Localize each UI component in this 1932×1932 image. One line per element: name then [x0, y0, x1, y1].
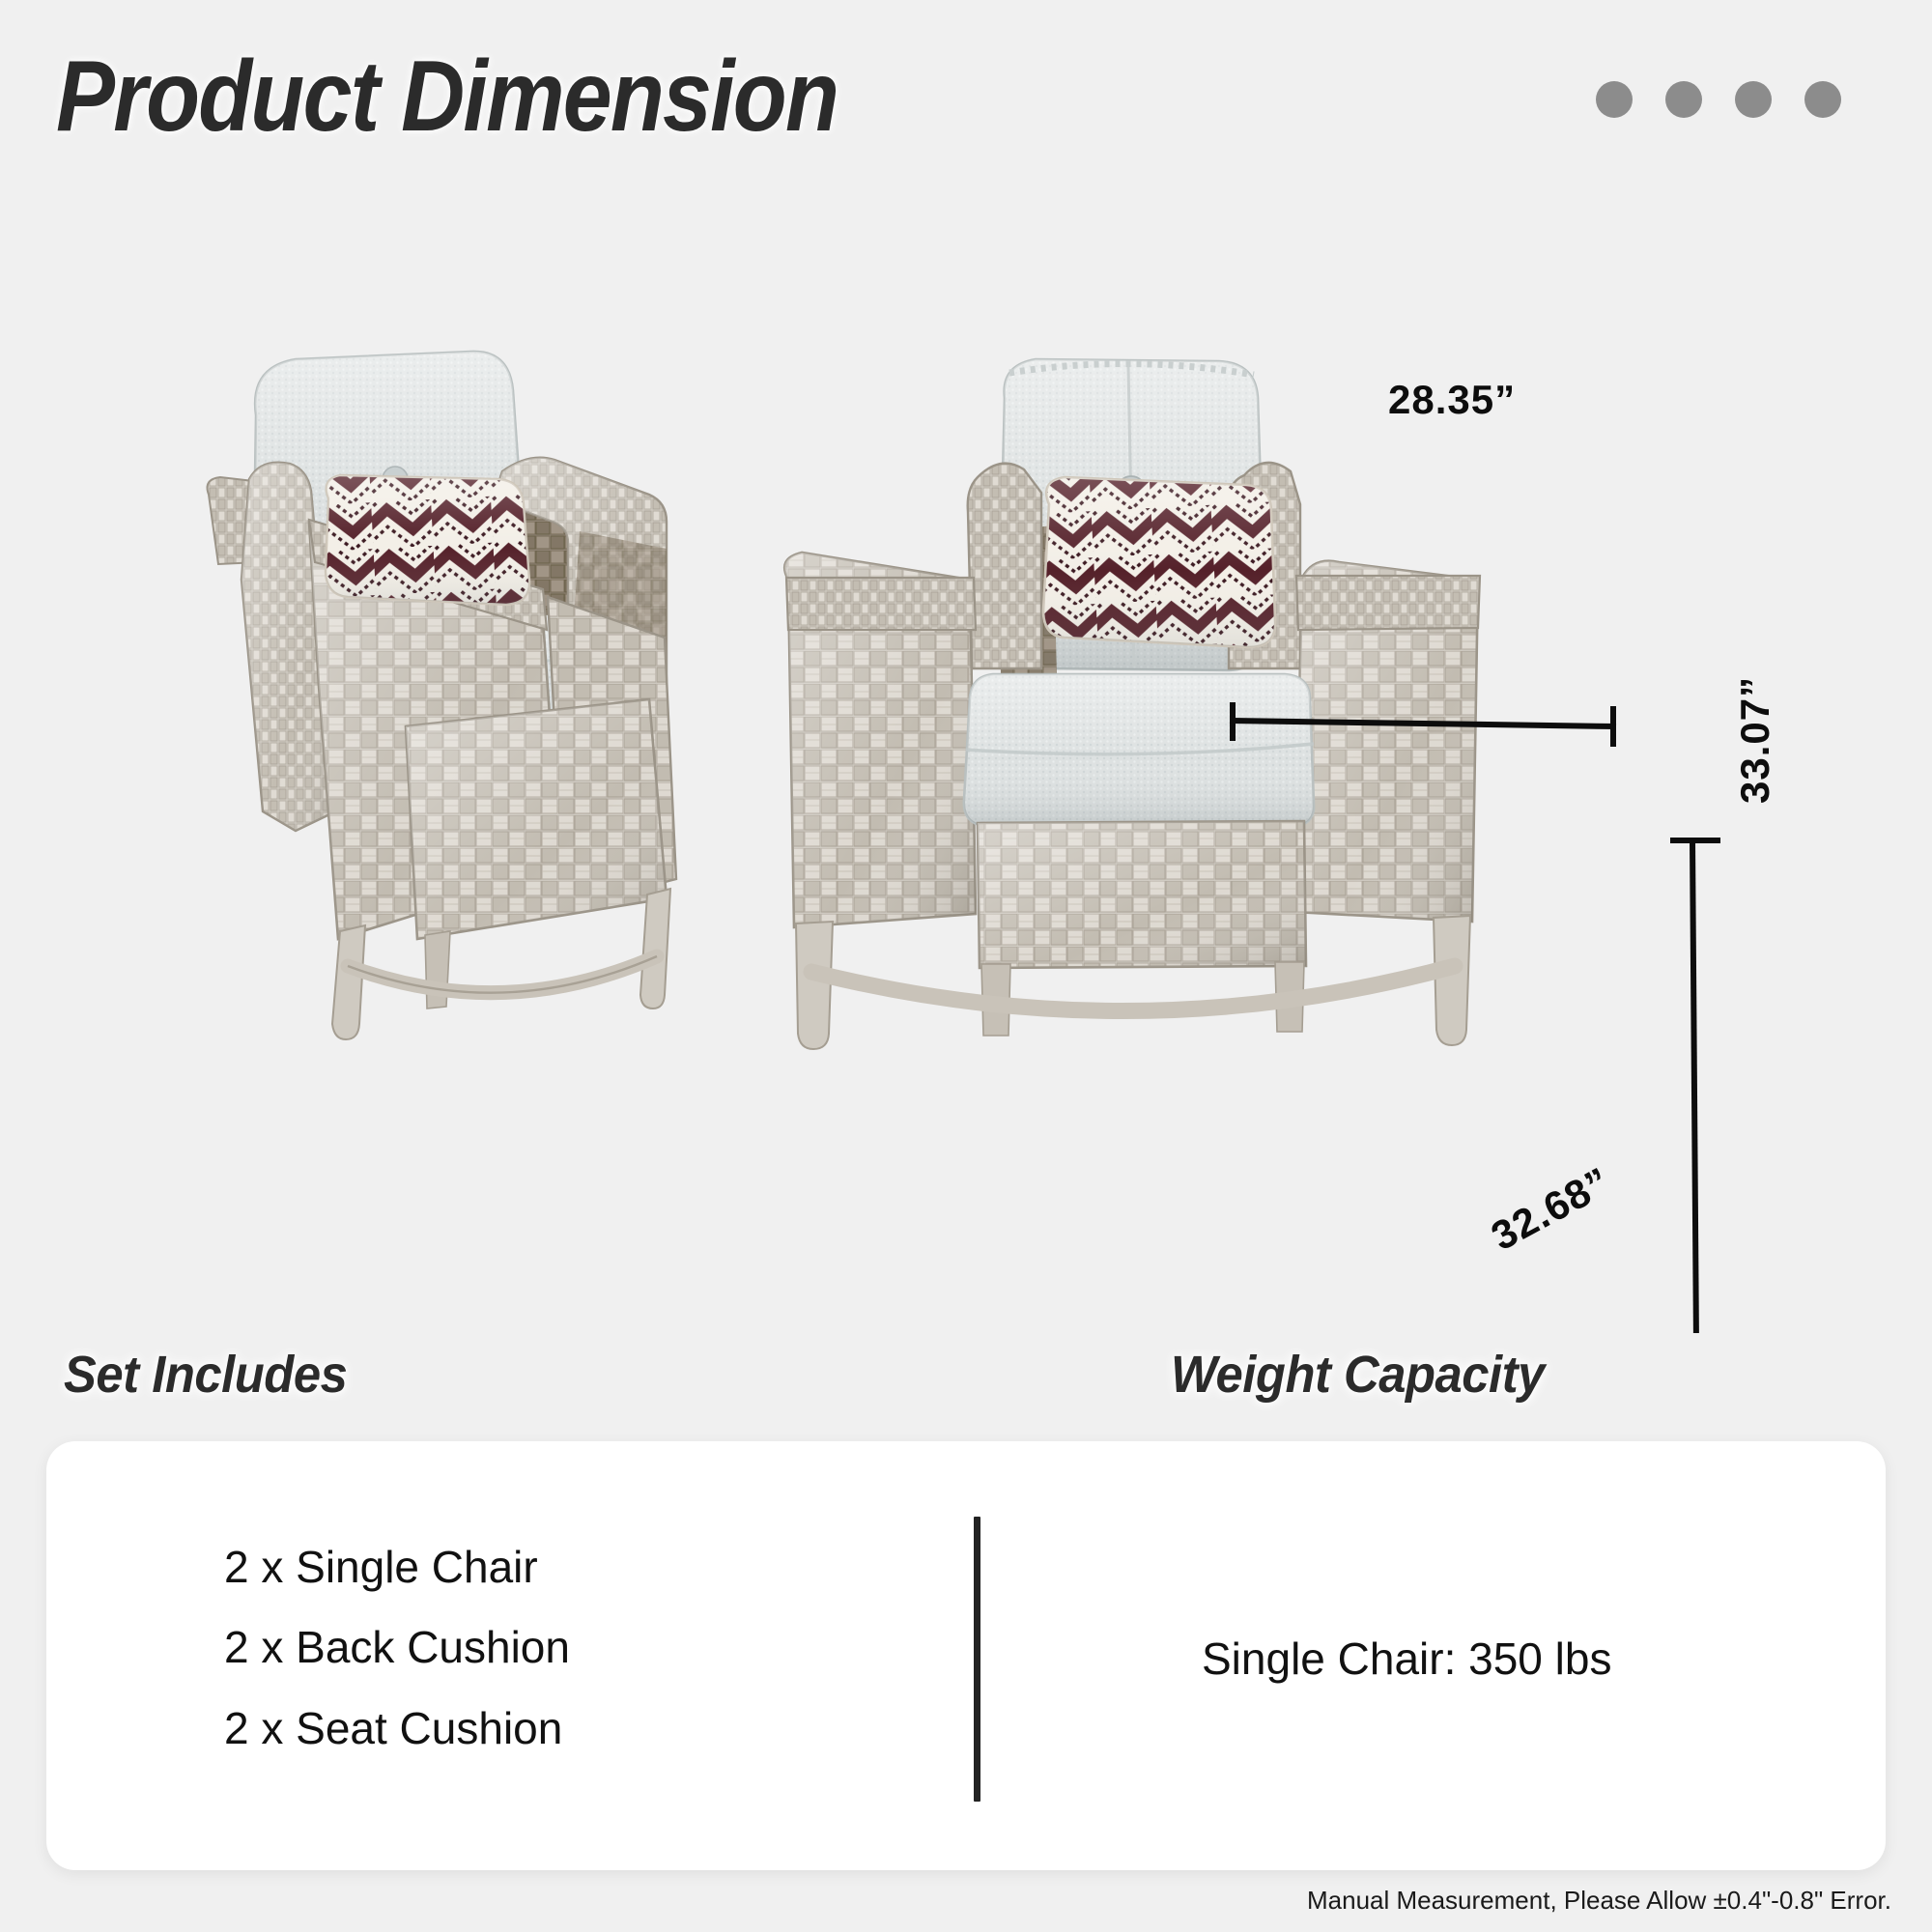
footer-disclaimer: Manual Measurement, Please Allow ±0.4"-0…	[1307, 1886, 1891, 1916]
weight-capacity-value: Single Chair: 350 lbs	[1202, 1633, 1611, 1685]
chair-right	[784, 359, 1480, 1049]
chair-right-throw-pillow	[1043, 477, 1275, 647]
dot-2-icon	[1665, 81, 1702, 118]
list-item: 2 x Single Chair	[224, 1542, 570, 1593]
chair-right-seat-cushion	[964, 674, 1314, 829]
chair-right-base	[978, 821, 1306, 968]
chair-left	[208, 352, 677, 1039]
card-divider	[974, 1517, 980, 1802]
set-includes-list: 2 x Single Chair 2 x Back Cushion 2 x Se…	[224, 1542, 570, 1754]
chair-left-throw-pillow	[326, 475, 529, 605]
dot-4-icon	[1804, 81, 1841, 118]
page-title: Product Dimension	[56, 44, 838, 150]
infographic-root: Product Dimension	[0, 0, 1932, 1932]
product-illustration	[0, 290, 1932, 1333]
dimension-line-height	[1673, 840, 1721, 1333]
list-item: 2 x Seat Cushion	[224, 1703, 570, 1754]
list-item: 2 x Back Cushion	[224, 1622, 570, 1673]
set-includes-heading: Set Includes	[64, 1345, 347, 1405]
dimension-width-label: 28.35”	[1388, 377, 1516, 423]
weight-capacity-heading: Weight Capacity	[1171, 1345, 1545, 1405]
dimension-height-label: 33.07”	[1732, 676, 1778, 804]
dot-3-icon	[1735, 81, 1772, 118]
pagination-dots	[1596, 81, 1841, 118]
dot-1-icon	[1596, 81, 1633, 118]
